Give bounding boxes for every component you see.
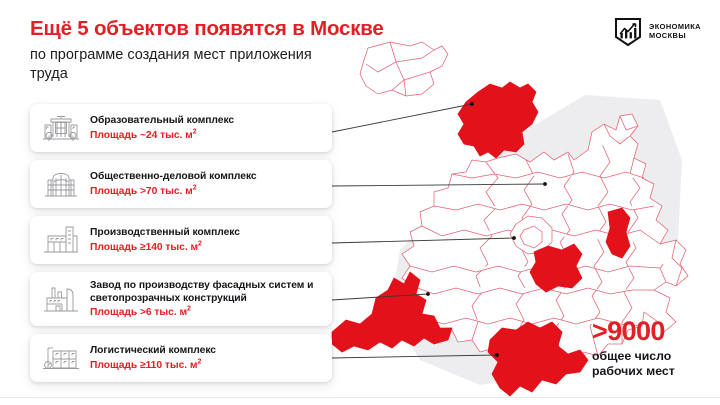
object-card[interactable]: Завод по производству фасадных систем и … bbox=[30, 272, 332, 326]
warehouse-icon bbox=[39, 339, 83, 377]
object-card-title: Образовательный комплекс bbox=[90, 114, 234, 127]
object-card[interactable]: Общественно-деловой комплекс Площадь >70… bbox=[30, 160, 332, 208]
object-card-title: Завод по производству фасадных систем и … bbox=[90, 279, 322, 305]
infographic-root: .dist { fill:#ffffff; stroke:#E36172; st… bbox=[0, 0, 720, 405]
object-card-area: Площадь >70 тыс. м2 bbox=[90, 185, 257, 198]
object-card-area: Площадь >6 тыс. м2 bbox=[90, 306, 322, 319]
object-card[interactable]: Образовательный комплекс Площадь ~24 тыс… bbox=[30, 104, 332, 152]
object-card-title: Производственный комплекс bbox=[90, 226, 240, 239]
page-subtitle: по программе создания мест приложения тр… bbox=[30, 46, 320, 84]
shield-chart-icon bbox=[614, 17, 642, 47]
bottom-divider bbox=[0, 397, 720, 398]
brand-logo: Экономика Москвы bbox=[614, 17, 701, 47]
object-card-area: Площадь ≥110 тыс. м2 bbox=[90, 359, 216, 372]
object-card-text: Завод по производству фасадных систем и … bbox=[90, 279, 322, 320]
object-card-area: Площадь ≥140 тыс. м2 bbox=[90, 241, 240, 254]
object-card-text: Образовательный комплекс Площадь ~24 тыс… bbox=[90, 114, 234, 141]
jobs-statistic-caption: общее число рабочих мест bbox=[592, 349, 716, 379]
object-card-text: Производственный комплекс Площадь ≥140 т… bbox=[90, 226, 240, 253]
object-card-text: Логистический комплекс Площадь ≥110 тыс.… bbox=[90, 344, 216, 371]
jobs-statistic-number: >9000 bbox=[592, 318, 716, 345]
object-card-area: Площадь ~24 тыс. м2 bbox=[90, 129, 234, 142]
page-title: Ещё 5 объектов появятся в Москве bbox=[30, 18, 470, 41]
object-card[interactable]: Логистический комплекс Площадь ≥110 тыс.… bbox=[30, 334, 332, 382]
map-highlight-3 bbox=[530, 244, 582, 292]
object-card-title: Логистический комплекс bbox=[90, 344, 216, 357]
brand-logo-text: Экономика Москвы bbox=[649, 23, 701, 40]
brand-logo-line2: Москвы bbox=[649, 32, 701, 41]
jobs-statistic: >9000 общее число рабочих мест bbox=[592, 318, 716, 379]
business-complex-icon bbox=[39, 165, 83, 203]
object-card-title: Общественно-деловой комплекс bbox=[90, 170, 257, 183]
object-card-text: Общественно-деловой комплекс Площадь >70… bbox=[90, 170, 257, 197]
object-card[interactable]: Производственный комплекс Площадь ≥140 т… bbox=[30, 216, 332, 264]
industrial-complex-icon bbox=[39, 221, 83, 259]
factory-icon bbox=[39, 280, 83, 318]
education-building-icon bbox=[39, 109, 83, 147]
header: Ещё 5 объектов появятся в Москве по прог… bbox=[30, 18, 470, 84]
object-card-list: Образовательный комплекс Площадь ~24 тыс… bbox=[30, 104, 332, 390]
